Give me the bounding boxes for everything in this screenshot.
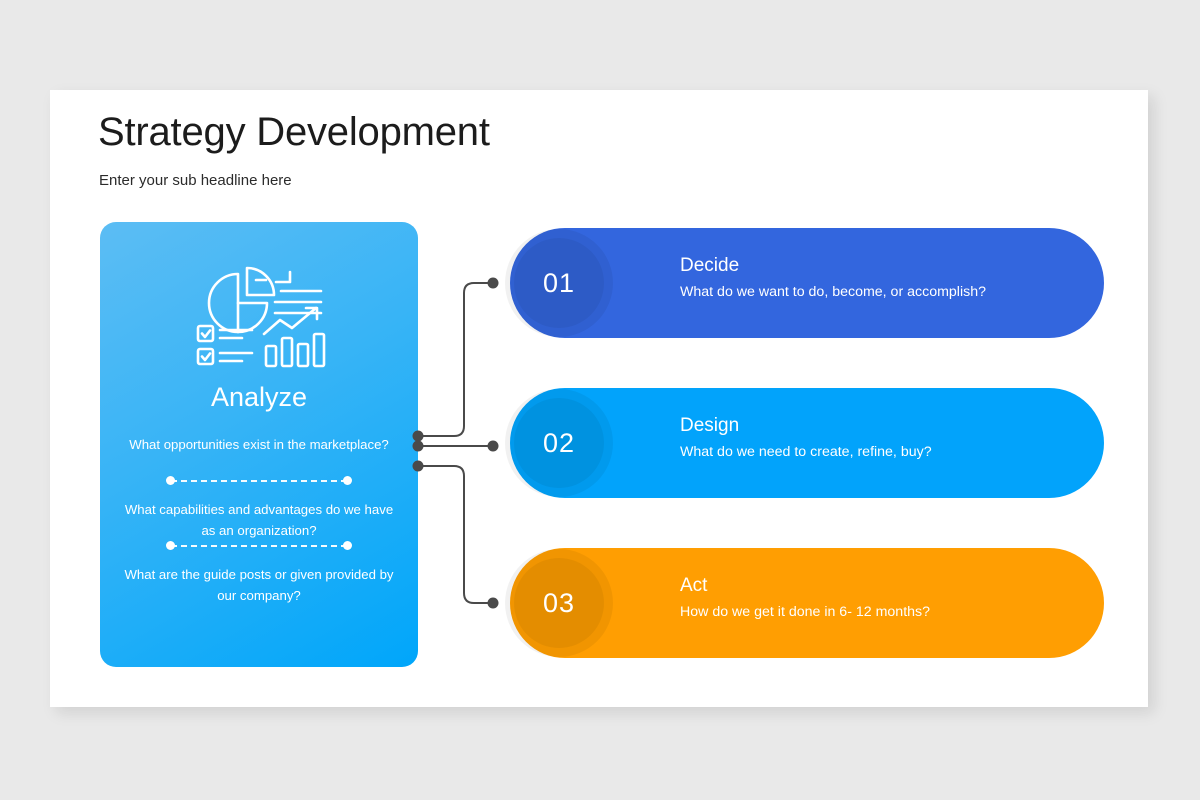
step-badge: 03 (505, 549, 613, 657)
step-number: 01 (505, 229, 613, 337)
analytics-report-icon (190, 250, 328, 379)
analyze-question: What capabilities and advantages do we h… (122, 499, 396, 541)
step-number: 02 (505, 389, 613, 497)
connector-dot-step-3 (488, 598, 499, 609)
step-text-block: Act How do we get it done in 6- 12 month… (680, 573, 1090, 623)
step-number: 03 (505, 549, 613, 657)
divider-dash-line (171, 480, 347, 482)
divider-dot-right (343, 476, 352, 485)
analyze-heading: Analyze (100, 382, 418, 413)
connector-dot-step-1 (488, 278, 499, 289)
analyze-question: What are the guide posts or given provid… (122, 564, 396, 606)
page-title: Strategy Development (98, 110, 490, 155)
analyze-divider (166, 476, 352, 486)
step-pill-design[interactable]: 02 Design What do we need to create, ref… (510, 388, 1104, 498)
connector-dot-step-2 (488, 441, 499, 452)
step-description: How do we get it done in 6- 12 months? (680, 601, 1090, 623)
divider-dash-line (171, 545, 347, 547)
step-pill-decide[interactable]: 01 Decide What do we want to do, become,… (510, 228, 1104, 338)
analyze-divider (166, 541, 352, 551)
step-title: Act (680, 573, 1090, 599)
step-description: What do we need to create, refine, buy? (680, 441, 1090, 463)
analyze-card[interactable]: Analyze What opportunities exist in the … (100, 222, 418, 667)
step-text-block: Design What do we need to create, refine… (680, 413, 1090, 463)
step-title: Design (680, 413, 1090, 439)
step-title: Decide (680, 253, 1090, 279)
slide-canvas: Strategy Development Enter your sub head… (50, 90, 1148, 707)
step-badge: 01 (505, 229, 613, 337)
step-badge: 02 (505, 389, 613, 497)
divider-dot-right (343, 541, 352, 550)
step-pill-act[interactable]: 03 Act How do we get it done in 6- 12 mo… (510, 548, 1104, 658)
step-description: What do we want to do, become, or accomp… (680, 281, 1090, 303)
page-subtitle: Enter your sub headline here (99, 172, 292, 189)
analyze-question: What opportunities exist in the marketpl… (122, 434, 396, 455)
step-text-block: Decide What do we want to do, become, or… (680, 253, 1090, 303)
